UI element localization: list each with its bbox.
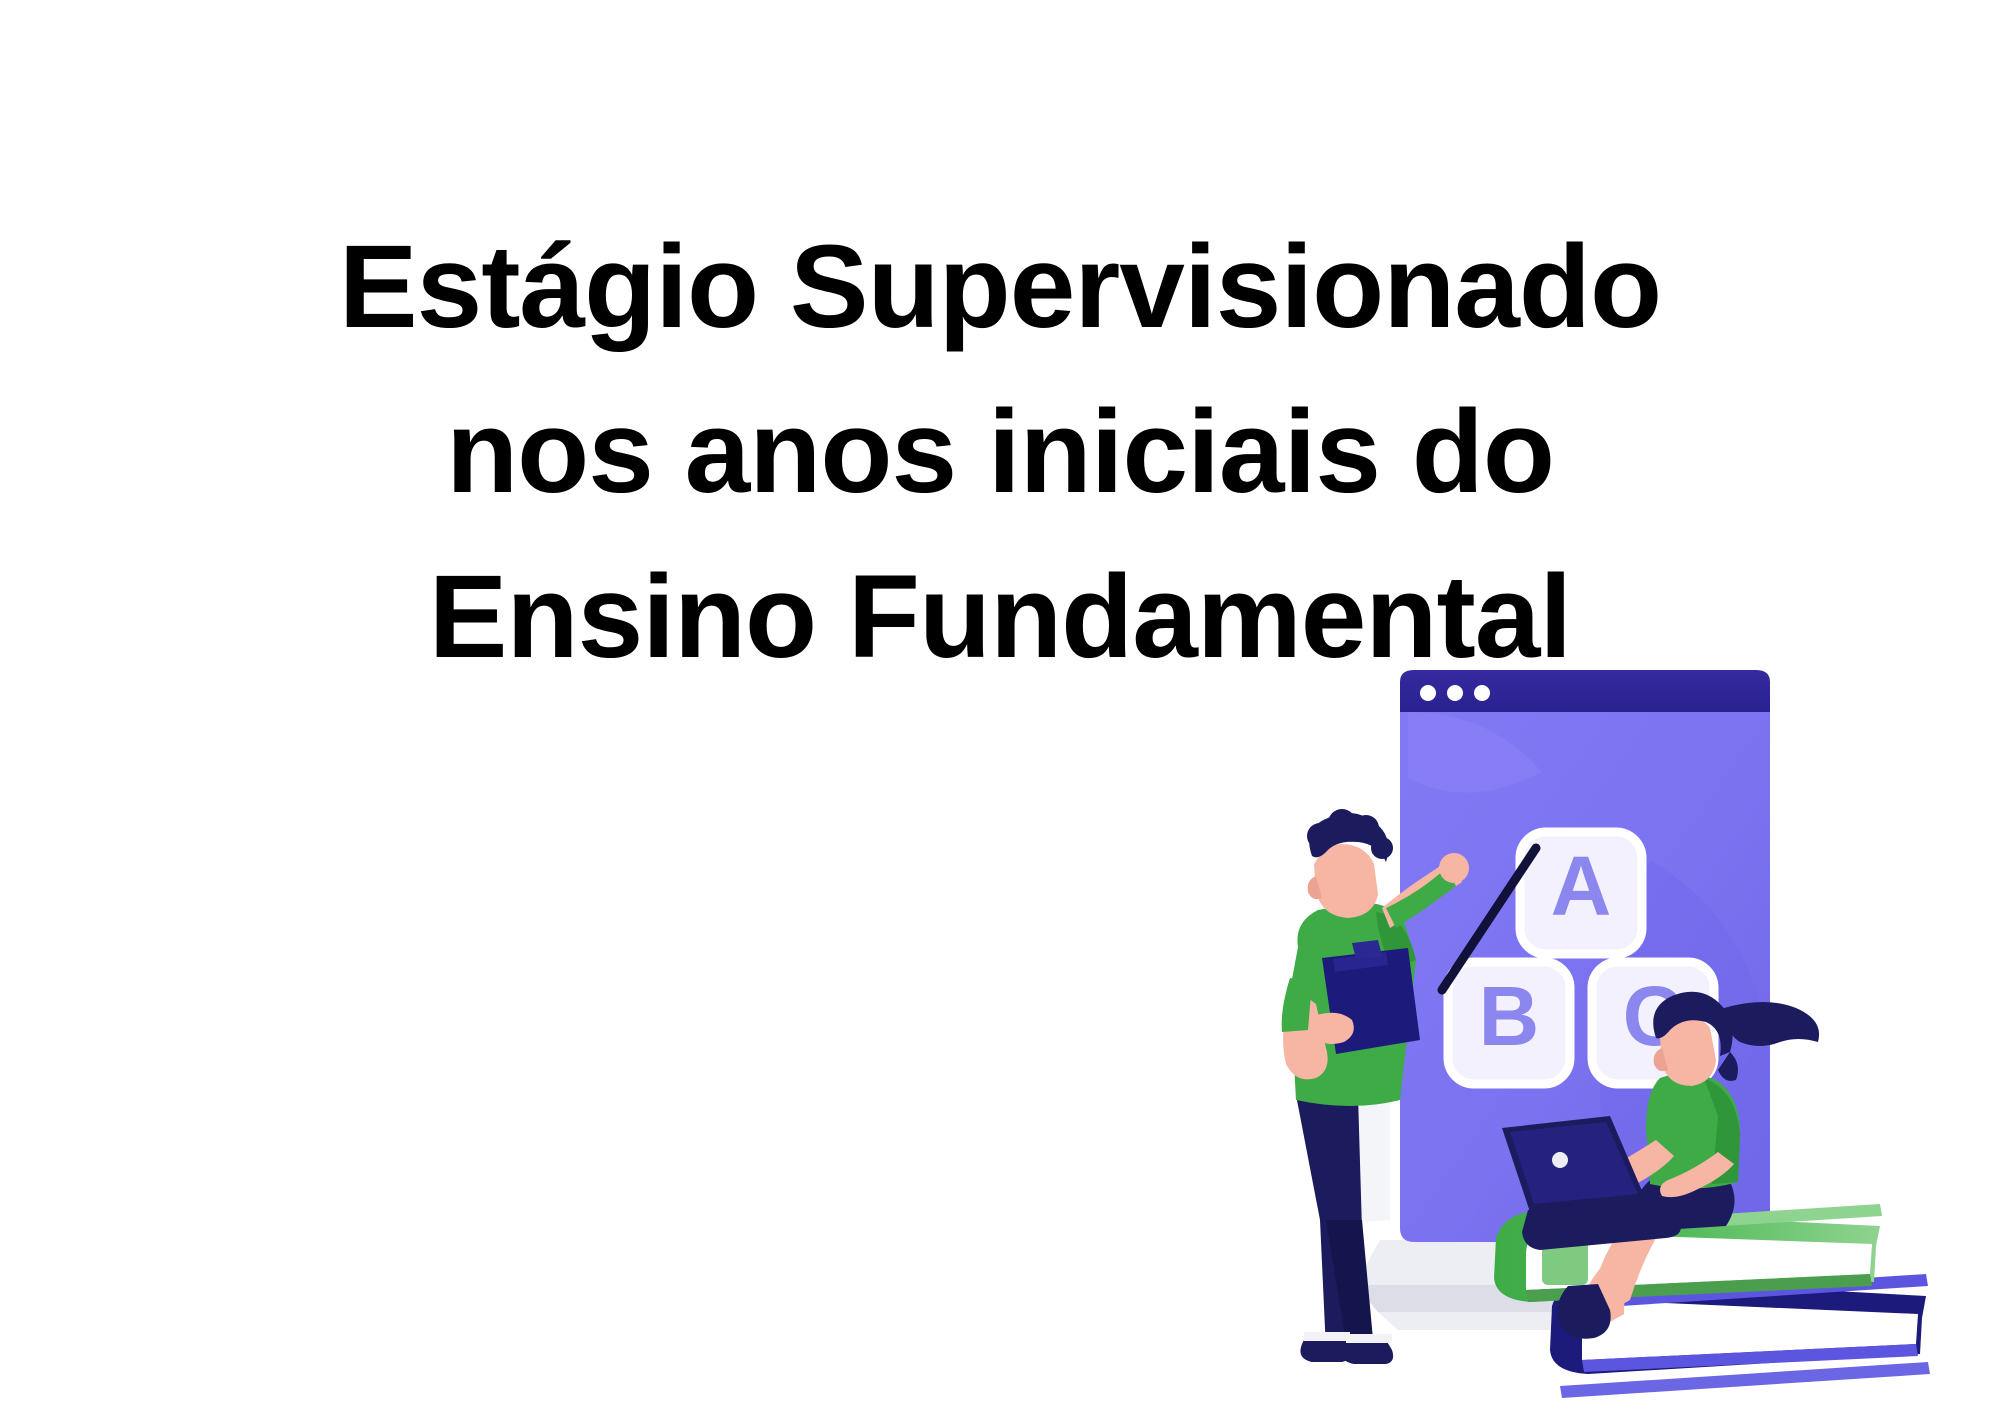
block-a-letter: A (1551, 839, 1612, 933)
title-line-1: Estágio Supervisionado (0, 205, 2000, 370)
title-line-2: nos anos iniciais do (0, 370, 2000, 535)
board-dot-2 (1447, 685, 1463, 701)
page-title: Estágio Supervisionado nos anos iniciais… (0, 205, 2000, 700)
block-b-letter: B (1479, 969, 1540, 1063)
block-b: B (1448, 962, 1570, 1084)
ponytail (1724, 1002, 1819, 1046)
slide-canvas: Estágio Supervisionado nos anos iniciais… (0, 0, 2000, 1414)
shoe-right (1341, 1340, 1393, 1364)
board-dot-1 (1420, 685, 1436, 701)
classroom-teaching-illustration: A B C (1090, 660, 2000, 1414)
board-dot-3 (1474, 685, 1490, 701)
